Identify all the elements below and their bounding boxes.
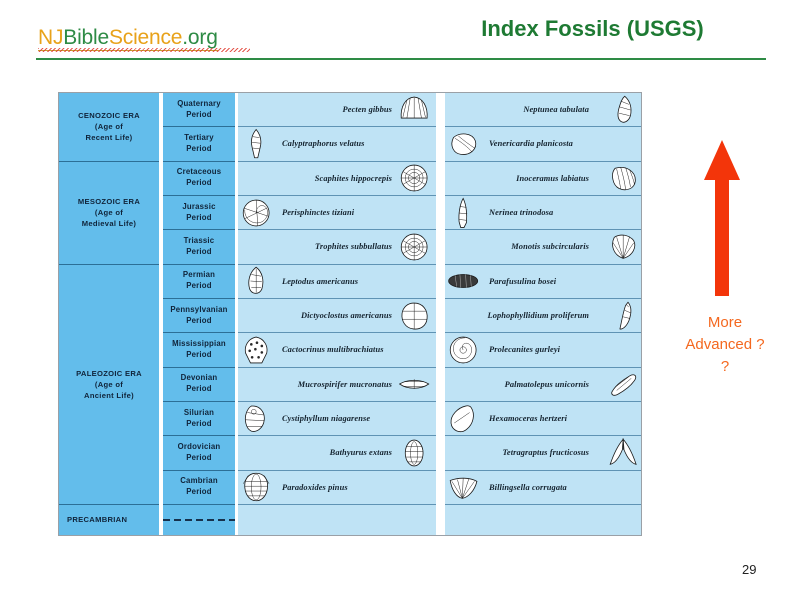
fossil-name: Monotis subcircularis xyxy=(445,242,641,251)
fossil-name: Nerinea trinodosa xyxy=(445,208,641,217)
more-advanced-line2: Advanced ? xyxy=(660,334,790,356)
fossil-b-row: Nerinea trinodosa xyxy=(445,196,641,230)
period-cell-permian: PermianPeriod xyxy=(163,265,235,299)
fossil-b-row xyxy=(445,505,641,535)
fossil-name: Lophophyllidium proliferum xyxy=(445,311,641,320)
period-label: OrdovicianPeriod xyxy=(178,442,221,464)
period-label: CretaceousPeriod xyxy=(177,167,221,189)
fossil-b-row: Tetragraptus fructicosus xyxy=(445,436,641,470)
fossil-name: Palmatolepus unicornis xyxy=(445,380,641,389)
fossil-b-row: Prolecanites gurleyi xyxy=(445,333,641,367)
page-title: Index Fossils (USGS) xyxy=(400,16,785,42)
fossil-b-row: Inoceramus labiatus xyxy=(445,162,641,196)
slide-number: 29 xyxy=(742,562,756,577)
period-label: QuaternaryPeriod xyxy=(177,99,221,121)
era-cell-paleozoic-era: PALEOZOIC ERA(Age ofAncient Life) xyxy=(59,265,159,505)
period-cell-cambrian: CambrianPeriod xyxy=(163,471,235,505)
period-label: CambrianPeriod xyxy=(180,476,218,498)
fossil-name: Tetragraptus fructicosus xyxy=(445,448,641,457)
era-label: PALEOZOIC ERA(Age ofAncient Life) xyxy=(76,368,142,401)
era-cell-mesozoic-era: MESOZOIC ERA(Age ofMedieval Life) xyxy=(59,162,159,265)
fossil-name: Paradoxides pinus xyxy=(238,483,436,492)
logo-part-org: .org xyxy=(182,26,217,49)
period-label: DevonianPeriod xyxy=(181,373,218,395)
fossil-b-row: Billingsella corrugata xyxy=(445,471,641,505)
era-cell-precambrian: PRECAMBRIAN xyxy=(59,505,159,535)
fossil-name: Leptodus americanus xyxy=(238,277,436,286)
fossil-a-row: Leptodus americanus xyxy=(238,265,436,299)
fossil-b-row: Parafusulina bosei xyxy=(445,265,641,299)
fossil-name: Pecten gibbus xyxy=(238,105,436,114)
fossil-b-row: Lophophyllidium proliferum xyxy=(445,299,641,333)
fossil-name: Venericardia planicosta xyxy=(445,139,641,148)
period-label: TertiaryPeriod xyxy=(184,133,214,155)
period-cell-tertiary: TertiaryPeriod xyxy=(163,127,235,161)
fossil-name: Inoceramus labiatus xyxy=(445,174,641,183)
fossil-b-row: Hexamoceras hertzeri xyxy=(445,402,641,436)
fossil-b-row: Palmatolepus unicornis xyxy=(445,368,641,402)
period-label: MississippianPeriod xyxy=(172,339,226,361)
fossil-a-row xyxy=(238,505,436,535)
era-cell-cenozoic-era: CENOZOIC ERA(Age ofRecent Life) xyxy=(59,93,159,162)
more-advanced-line1: More xyxy=(660,312,790,334)
fossil-a-row: Paradoxides pinus xyxy=(238,471,436,505)
fossil-name: Calyptraphorus velatus xyxy=(238,139,436,148)
fossil-name: Scaphites hippocrepis xyxy=(238,174,436,183)
era-label: CENOZOIC ERA(Age ofRecent Life) xyxy=(78,110,140,143)
period-cell-cretaceous: CretaceousPeriod xyxy=(163,162,235,196)
fossil-a-row: Cactocrinus multibrachiatus xyxy=(238,333,436,367)
fossil-name: Parafusulina bosei xyxy=(445,277,641,286)
period-cell-ordovician: OrdovicianPeriod xyxy=(163,436,235,470)
fossil-a-row: Dictyoclostus americanus xyxy=(238,299,436,333)
more-advanced-label: More Advanced ? ? xyxy=(660,312,790,377)
fossil-name: Mucrospirifer mucronatus xyxy=(238,380,436,389)
period-column: QuaternaryPeriodTertiaryPeriodCretaceous… xyxy=(163,93,235,535)
fossil-name: Trophites subbullatus xyxy=(238,242,436,251)
arrow-up-icon xyxy=(700,138,744,303)
title-divider xyxy=(36,58,766,60)
logo-part-science: Science xyxy=(109,26,182,49)
era-label: MESOZOIC ERA(Age ofMedieval Life) xyxy=(78,196,140,229)
fossil-name: Perisphinctes tiziani xyxy=(238,208,436,217)
era-column: CENOZOIC ERA(Age ofRecent Life)MESOZOIC … xyxy=(59,93,159,535)
fossil-name: Cystiphyllum niagarense xyxy=(238,414,436,423)
spellcheck-squiggle xyxy=(38,48,250,52)
fossil-name: Neptunea tabulata xyxy=(445,105,641,114)
fossil-name: Cactocrinus multibrachiatus xyxy=(238,345,436,354)
period-label: JurassicPeriod xyxy=(182,202,215,224)
period-label: PennsylvanianPeriod xyxy=(170,305,227,327)
period-label: SilurianPeriod xyxy=(184,408,214,430)
fossil-name: Billingsella corrugata xyxy=(445,483,641,492)
period-label: TriassicPeriod xyxy=(184,236,215,258)
more-advanced-line3: ? xyxy=(660,356,790,378)
fossil-column-b: Neptunea tabulataVenericardia planicosta… xyxy=(445,93,641,535)
fossil-name: Dictyoclostus americanus xyxy=(238,311,436,320)
fossil-a-row: Trophites subbullatus xyxy=(238,230,436,264)
fossil-a-row: Calyptraphorus velatus xyxy=(238,127,436,161)
period-cell-jurassic: JurassicPeriod xyxy=(163,196,235,230)
fossil-column-a: Pecten gibbusCalyptraphorus velatusScaph… xyxy=(238,93,436,535)
fossil-a-row: Pecten gibbus xyxy=(238,93,436,127)
logo-part-bible: Bible xyxy=(63,26,109,49)
fossil-a-row: Perisphinctes tiziani xyxy=(238,196,436,230)
fossil-name: Prolecanites gurleyi xyxy=(445,345,641,354)
period-label: PermianPeriod xyxy=(183,270,215,292)
period-cell-quaternary: QuaternaryPeriod xyxy=(163,93,235,127)
fossil-name: Hexamoceras hertzeri xyxy=(445,414,641,423)
fossil-a-row: Cystiphyllum niagarense xyxy=(238,402,436,436)
fossil-name: Bathyurus extans xyxy=(238,448,436,457)
period-cell-mississippian: MississippianPeriod xyxy=(163,333,235,367)
fossil-a-row: Bathyurus extans xyxy=(238,436,436,470)
index-fossils-chart: CENOZOIC ERA(Age ofRecent Life)MESOZOIC … xyxy=(58,92,642,536)
period-cell-silurian: SilurianPeriod xyxy=(163,402,235,436)
fossil-a-row: Scaphites hippocrepis xyxy=(238,162,436,196)
logo-part-nj: NJ xyxy=(38,26,63,49)
period-cell-pennsylvanian: PennsylvanianPeriod xyxy=(163,299,235,333)
period-cell-devonian: DevonianPeriod xyxy=(163,368,235,402)
fossil-b-row: Venericardia planicosta xyxy=(445,127,641,161)
era-label: PRECAMBRIAN xyxy=(67,514,127,525)
fossil-b-row: Neptunea tabulata xyxy=(445,93,641,127)
period-cell-precambrian xyxy=(163,505,235,535)
site-logo[interactable]: NJBibleScience.org xyxy=(38,26,218,50)
fossil-a-row: Mucrospirifer mucronatus xyxy=(238,368,436,402)
fossil-b-row: Monotis subcircularis xyxy=(445,230,641,264)
period-cell-triassic: TriassicPeriod xyxy=(163,230,235,264)
